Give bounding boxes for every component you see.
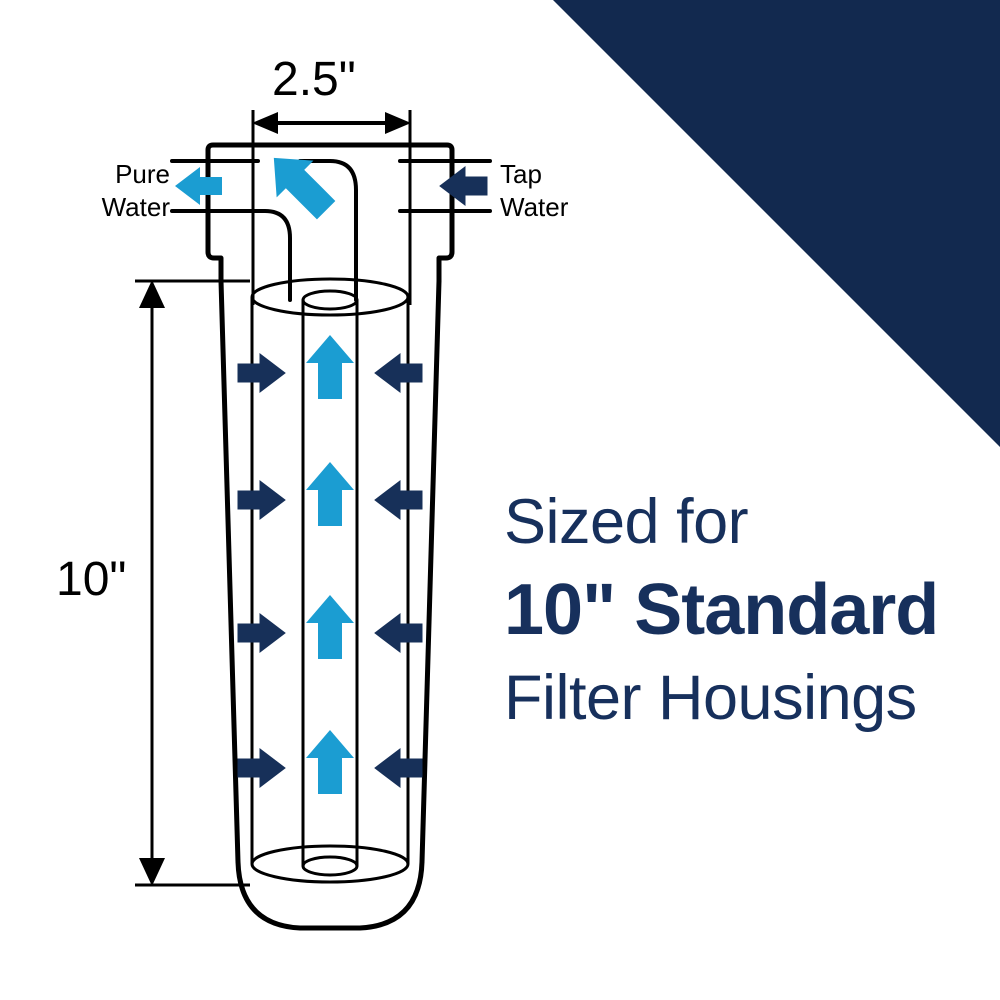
- core-up-arrow-3: [306, 595, 354, 659]
- height-dimension: [135, 281, 250, 885]
- inward-arrow-right-1: [375, 354, 422, 392]
- tap-water-label-line2: Water: [500, 191, 600, 224]
- inward-arrow-left-4: [238, 749, 285, 787]
- inward-arrow-right-2: [375, 481, 422, 519]
- marketing-line-3: Filter Housings: [504, 666, 974, 730]
- marketing-line-2: 10" Standard: [504, 574, 974, 647]
- width-dimension: [253, 110, 410, 305]
- tap-water-label: Tap Water: [500, 158, 600, 225]
- inward-arrow-right-3: [375, 614, 422, 652]
- tap-water-label-line1: Tap: [500, 158, 600, 191]
- head-diagonal-flow-arrow: [255, 139, 344, 228]
- flow-row-3: [238, 595, 422, 659]
- inward-arrow-right-4: [375, 749, 422, 787]
- product-infographic: 2.5" 10" Pure Water Tap Water Sized for …: [0, 0, 1000, 1000]
- width-dimension-label: 2.5": [272, 52, 356, 107]
- core-up-arrow-2: [306, 462, 354, 526]
- core-up-arrow-4: [306, 730, 354, 794]
- outlet-flow-arrow: [175, 167, 222, 205]
- inlet-flow-arrow: [440, 167, 487, 205]
- flow-row-1: [238, 335, 422, 399]
- pure-water-label-line2: Water: [82, 191, 170, 224]
- marketing-line-1: Sized for: [504, 490, 974, 554]
- inward-arrow-left-2: [238, 481, 285, 519]
- height-dimension-label: 10": [56, 552, 126, 607]
- pure-water-label-line1: Pure: [82, 158, 170, 191]
- flow-row-2: [238, 462, 422, 526]
- flow-row-4: [238, 730, 422, 794]
- inward-arrow-left-1: [238, 354, 285, 392]
- core-up-arrow-1: [306, 335, 354, 399]
- pure-water-label: Pure Water: [82, 158, 170, 225]
- inward-arrow-left-3: [238, 614, 285, 652]
- marketing-copy-block: Sized for 10" Standard Filter Housings: [504, 490, 974, 730]
